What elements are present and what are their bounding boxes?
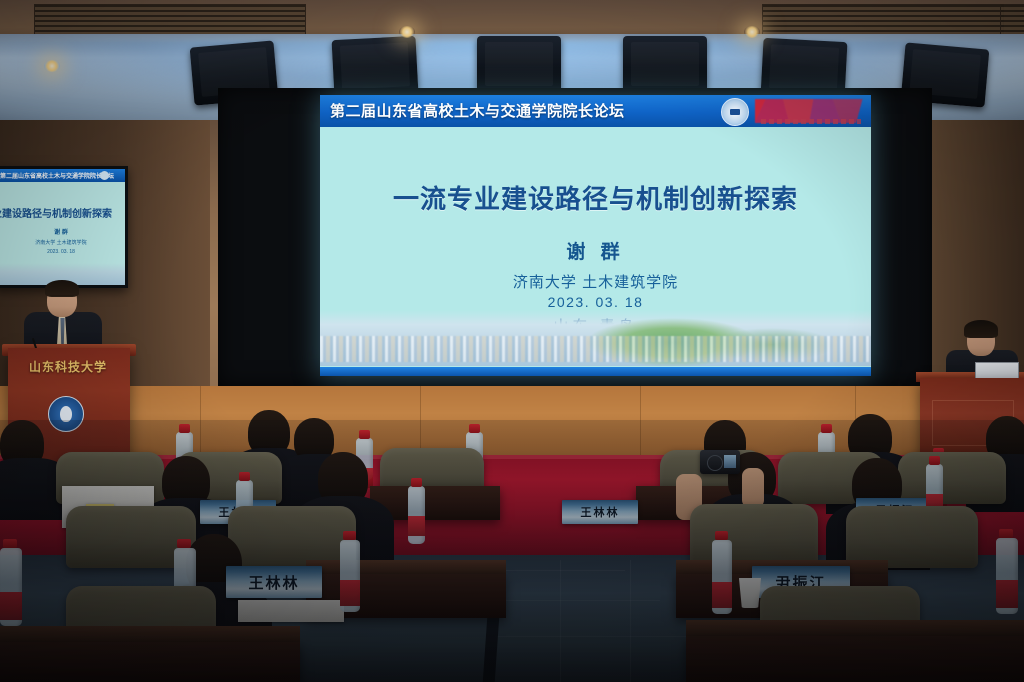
placard-name: 王林林 — [248, 572, 299, 593]
conference-hall-photo: 第二届山东省高校土木与交通学院院长论坛 一流专业建设路径与机制创新探索 谢 群 … — [0, 0, 1024, 682]
name-placard: 王林林 — [562, 500, 638, 524]
ceiling-speaker — [623, 36, 707, 94]
water-bottle — [408, 486, 425, 544]
side-wall-monitor: 第二届山东省高校土木与交通学院院长论坛 业建设路径与机制创新探索 谢 群 济南大… — [0, 166, 128, 288]
podium-institution-name: 山东科技大学 — [14, 358, 122, 375]
slide-date: 2023. 03. 18 — [320, 294, 871, 310]
auditorium-seat — [846, 506, 978, 568]
water-bottle — [340, 540, 360, 612]
speaker-glasses-icon — [50, 295, 74, 302]
front-desk — [0, 642, 300, 682]
slide-affiliation: 济南大学 土木建筑学院 — [320, 271, 871, 292]
ceiling-downlight — [399, 26, 415, 38]
ceiling-downlight — [44, 60, 60, 72]
name-placard: 王林林 — [226, 566, 322, 598]
slide-title: 一流专业建设路径与机制创新探索 — [320, 179, 871, 216]
ceiling-speaker — [477, 36, 561, 94]
monitor-university-seal-icon — [100, 171, 109, 180]
monitor-date: 2023. 03. 18 — [0, 249, 125, 255]
front-desk — [686, 636, 1024, 682]
water-bottle — [996, 538, 1018, 614]
slide-banner-title: 第二届山东省高校土木与交通学院院长论坛 — [330, 100, 625, 121]
slide-cityscape-illustration — [320, 310, 871, 366]
auditorium-seat — [898, 452, 1006, 504]
printed-handout — [238, 600, 344, 622]
auditorium-seat — [690, 504, 818, 566]
monitor-affiliation: 济南大学 土木建筑学院 — [0, 239, 125, 246]
water-bottle — [0, 548, 22, 626]
ceiling-downlight — [744, 26, 760, 38]
slide-presenter-name: 谢 群 — [320, 237, 871, 264]
handheld-camera — [700, 450, 740, 474]
paper-cup — [738, 578, 762, 608]
water-bottle — [712, 540, 732, 614]
slide-footer-bar — [320, 367, 871, 376]
university-seal-icon — [721, 98, 749, 126]
auditorium-seat — [228, 506, 356, 568]
right-attendee-hair — [964, 320, 998, 338]
university-logo-subtext — [761, 119, 861, 124]
monitor-presenter: 谢 群 — [0, 227, 125, 236]
monitor-banner-title: 第二届山东省高校土木与交通学院院长论坛 — [0, 171, 114, 180]
podium-university-emblem-icon — [48, 396, 84, 432]
attendee-arm — [742, 468, 764, 508]
monitor-slide-title: 业建设路径与机制创新探索 — [0, 205, 125, 220]
placard-name: 王林林 — [581, 504, 620, 520]
projection-screen: 第二届山东省高校土木与交通学院院长论坛 一流专业建设路径与机制创新探索 谢 群 … — [320, 95, 871, 376]
